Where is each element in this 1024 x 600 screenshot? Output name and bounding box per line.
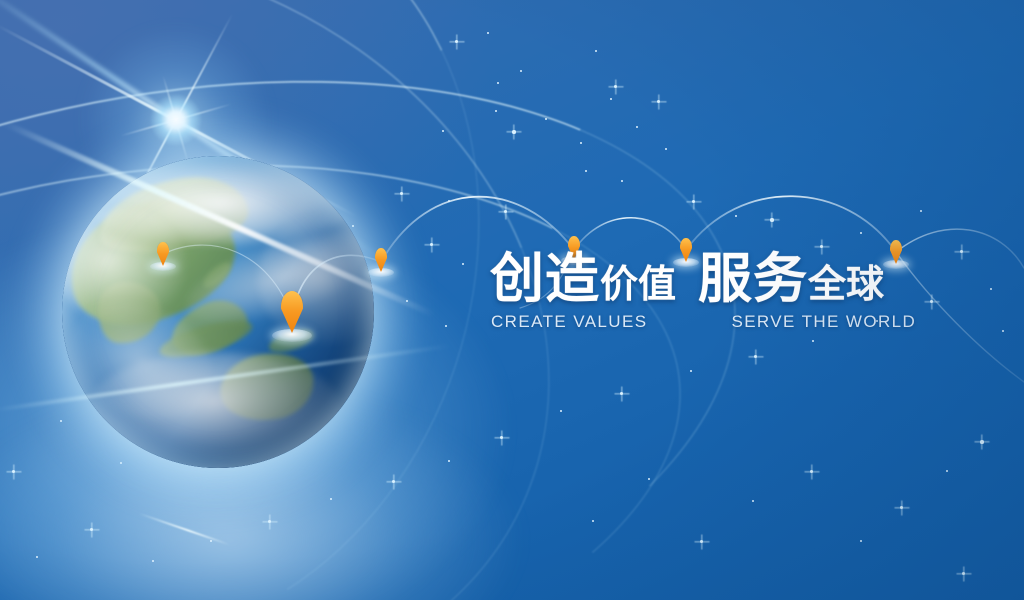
banner-hero: 创造价值服务全球 CREATE VALUES SERVE THE WORLD (0, 0, 1024, 600)
background-vignette (0, 0, 1024, 600)
